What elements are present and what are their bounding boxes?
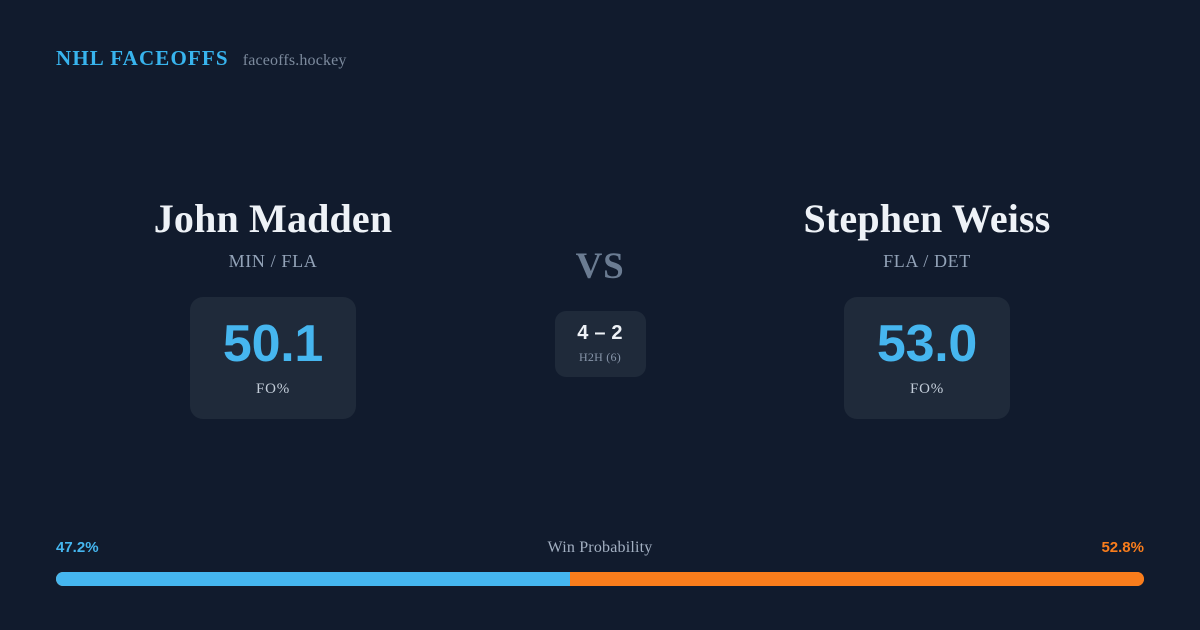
player-name-left: John Madden bbox=[154, 196, 393, 242]
faceoff-pct-value-right: 53.0 bbox=[877, 318, 977, 370]
brand-header: NHL FACEOFFS faceoffs.hockey bbox=[56, 46, 347, 71]
faceoff-pct-label-left: FO% bbox=[256, 381, 290, 398]
head-to-head-label: H2H (6) bbox=[579, 350, 621, 365]
brand-title: NHL FACEOFFS bbox=[56, 46, 229, 71]
player-card-right: Stephen Weiss FLA / DET 53.0 FO% bbox=[700, 196, 1154, 419]
player-teams-left: MIN / FLA bbox=[229, 251, 318, 272]
win-probability-section: 47.2% Win Probability 52.8% bbox=[56, 540, 1144, 586]
faceoff-comparison-card: NHL FACEOFFS faceoffs.hockey John Madden… bbox=[0, 0, 1200, 630]
win-probability-bar-right-fill bbox=[570, 572, 1144, 586]
faceoff-stat-card-right: 53.0 FO% bbox=[844, 297, 1010, 419]
head-to-head-card: 4 – 2 H2H (6) bbox=[555, 311, 646, 377]
win-probability-title: Win Probability bbox=[56, 539, 1144, 557]
win-probability-bar bbox=[56, 572, 1144, 586]
faceoff-pct-label-right: FO% bbox=[910, 381, 944, 398]
win-probability-header: 47.2% Win Probability 52.8% bbox=[56, 540, 1144, 564]
versus-label: VS bbox=[576, 248, 625, 285]
faceoff-pct-value-left: 50.1 bbox=[223, 318, 323, 370]
faceoff-stat-card-left: 50.1 FO% bbox=[190, 297, 356, 419]
player-card-left: John Madden MIN / FLA 50.1 FO% bbox=[46, 196, 500, 419]
versus-column: VS 4 – 2 H2H (6) bbox=[500, 196, 700, 377]
matchup-row: John Madden MIN / FLA 50.1 FO% VS 4 – 2 … bbox=[0, 196, 1200, 419]
win-probability-right-value: 52.8% bbox=[1101, 540, 1144, 555]
brand-domain: faceoffs.hockey bbox=[243, 52, 347, 70]
player-teams-right: FLA / DET bbox=[883, 251, 971, 272]
player-name-right: Stephen Weiss bbox=[804, 196, 1051, 242]
head-to-head-score: 4 – 2 bbox=[577, 323, 622, 343]
win-probability-bar-left-fill bbox=[56, 572, 570, 586]
